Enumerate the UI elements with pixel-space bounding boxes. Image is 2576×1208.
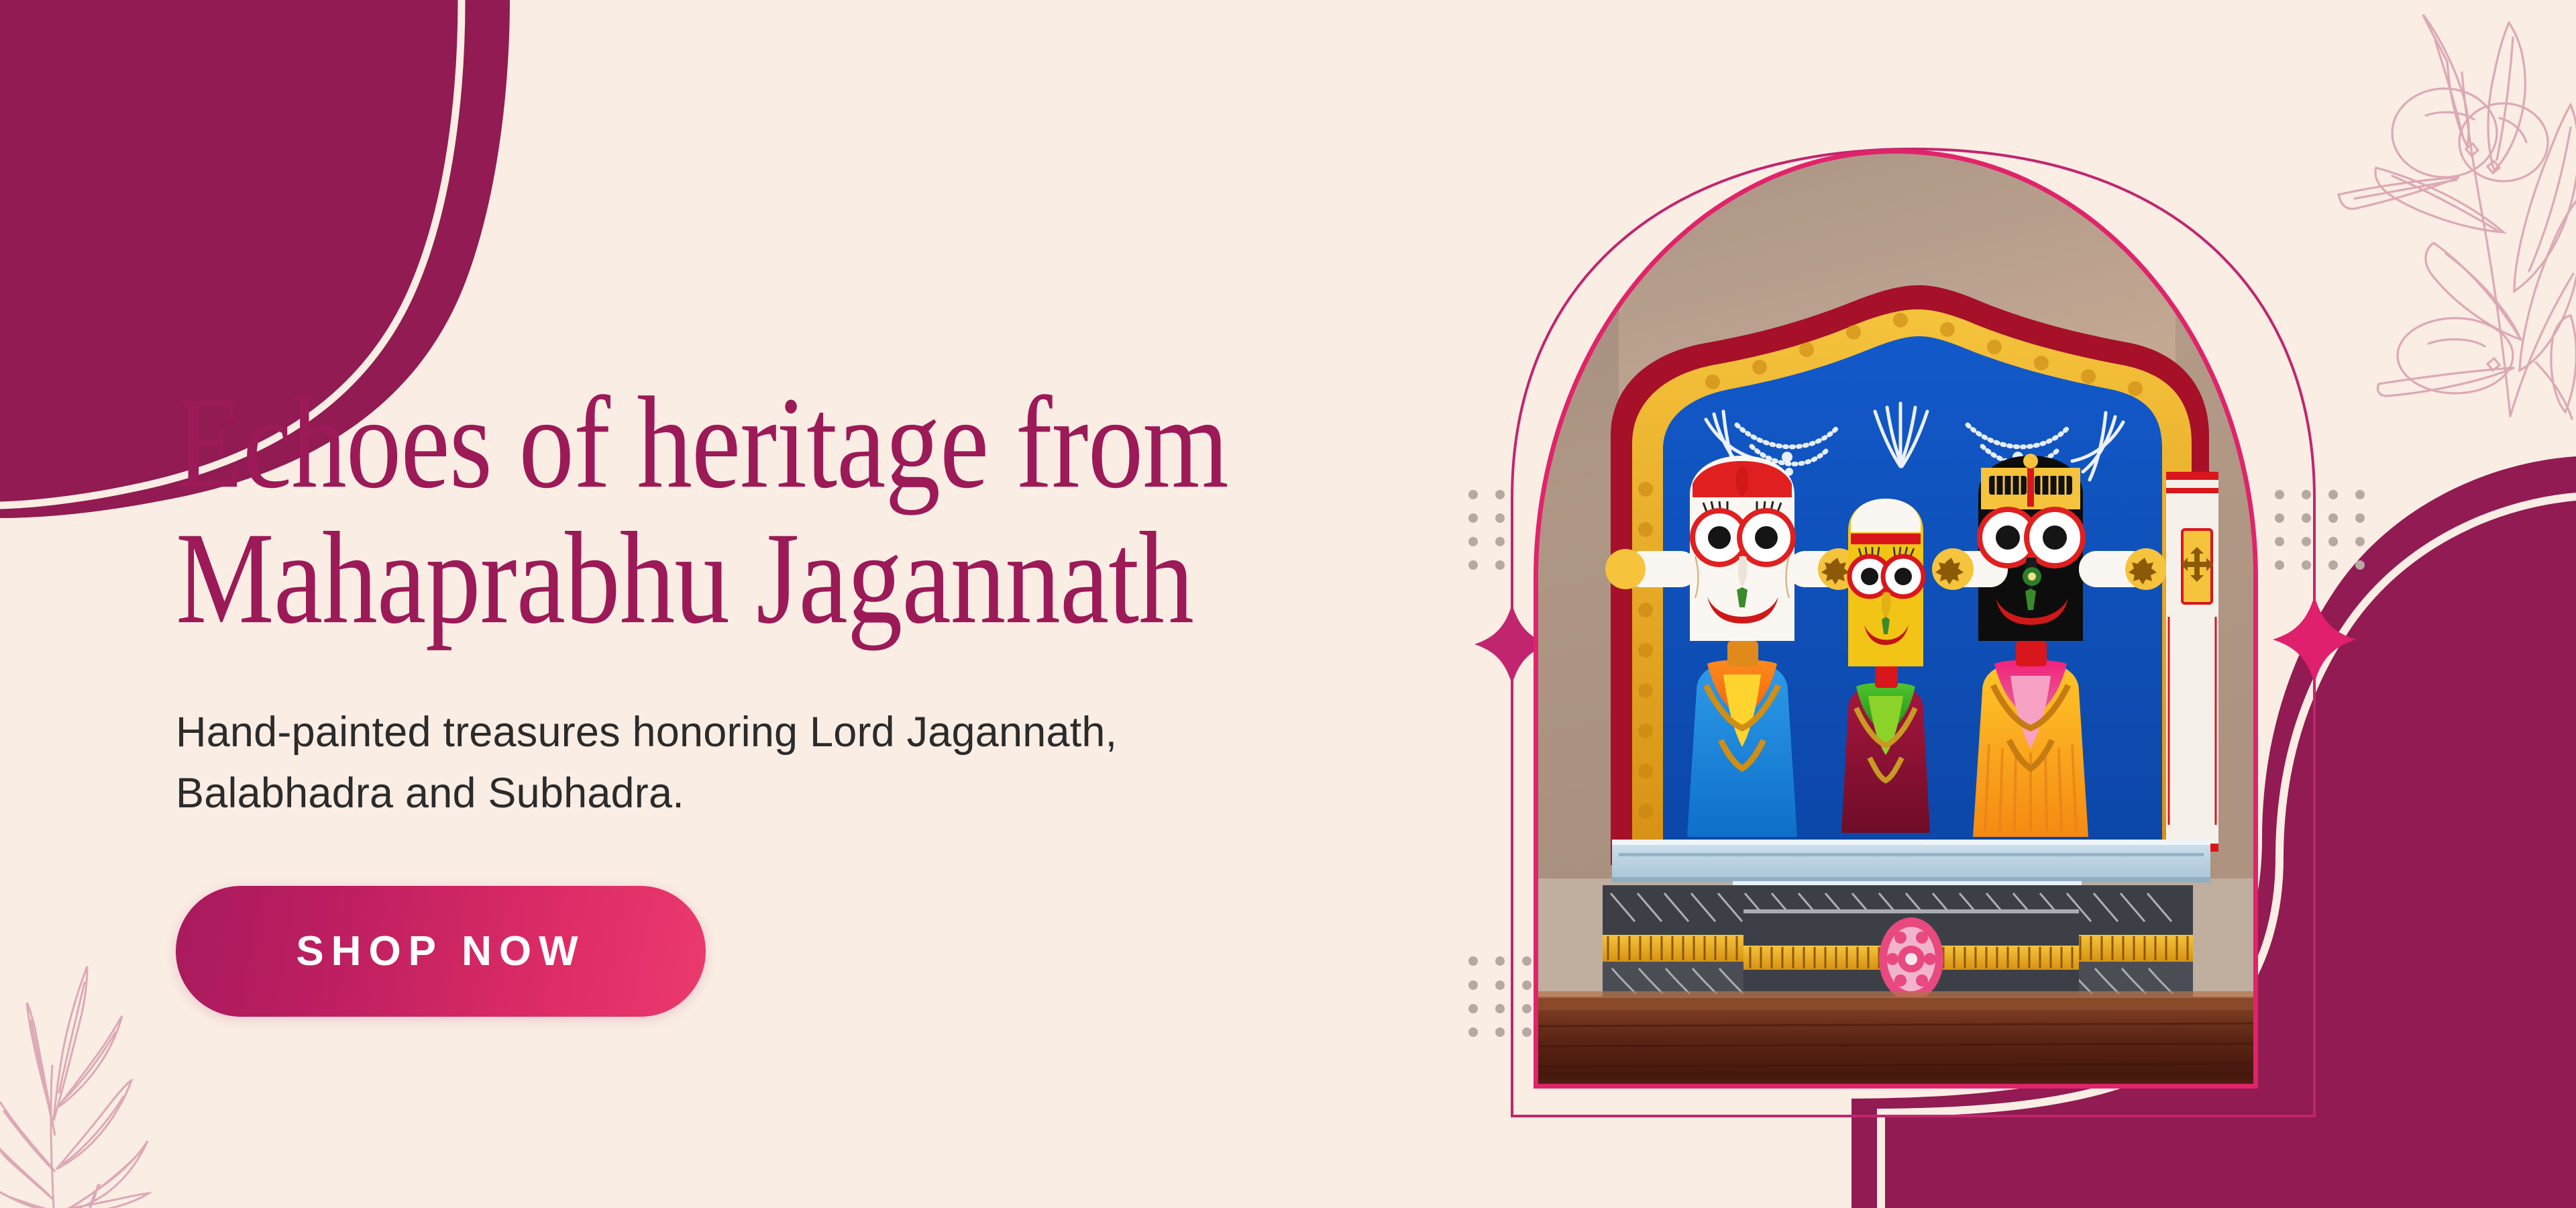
arch-framed-photo[interactable] xyxy=(1534,149,2258,1089)
page-title: Echoes of heritage from Mahaprabhu Jagan… xyxy=(176,376,1374,647)
jagannath-altar-illustration xyxy=(1538,154,2253,1084)
wooden-table xyxy=(1538,991,2253,1084)
hero-banner: Echoes of heritage from Mahaprabhu Jagan… xyxy=(0,0,2576,1208)
leaf-sprig-icon xyxy=(0,966,149,1208)
hero-subtitle: Hand-painted treasures honoring Lord Jag… xyxy=(176,702,1424,823)
cta-wrapper: SHOP NOW xyxy=(176,886,1424,1017)
olive-branch-icon xyxy=(2339,15,2576,419)
temple-pillar xyxy=(2166,472,2218,852)
deity-subhadra xyxy=(1841,499,1930,833)
hero-text-column: Echoes of heritage from Mahaprabhu Jagan… xyxy=(176,376,1424,1017)
shop-now-button[interactable]: SHOP NOW xyxy=(176,886,706,1017)
hero-image-block xyxy=(1495,107,2333,1131)
photo-clip xyxy=(1538,154,2253,1084)
